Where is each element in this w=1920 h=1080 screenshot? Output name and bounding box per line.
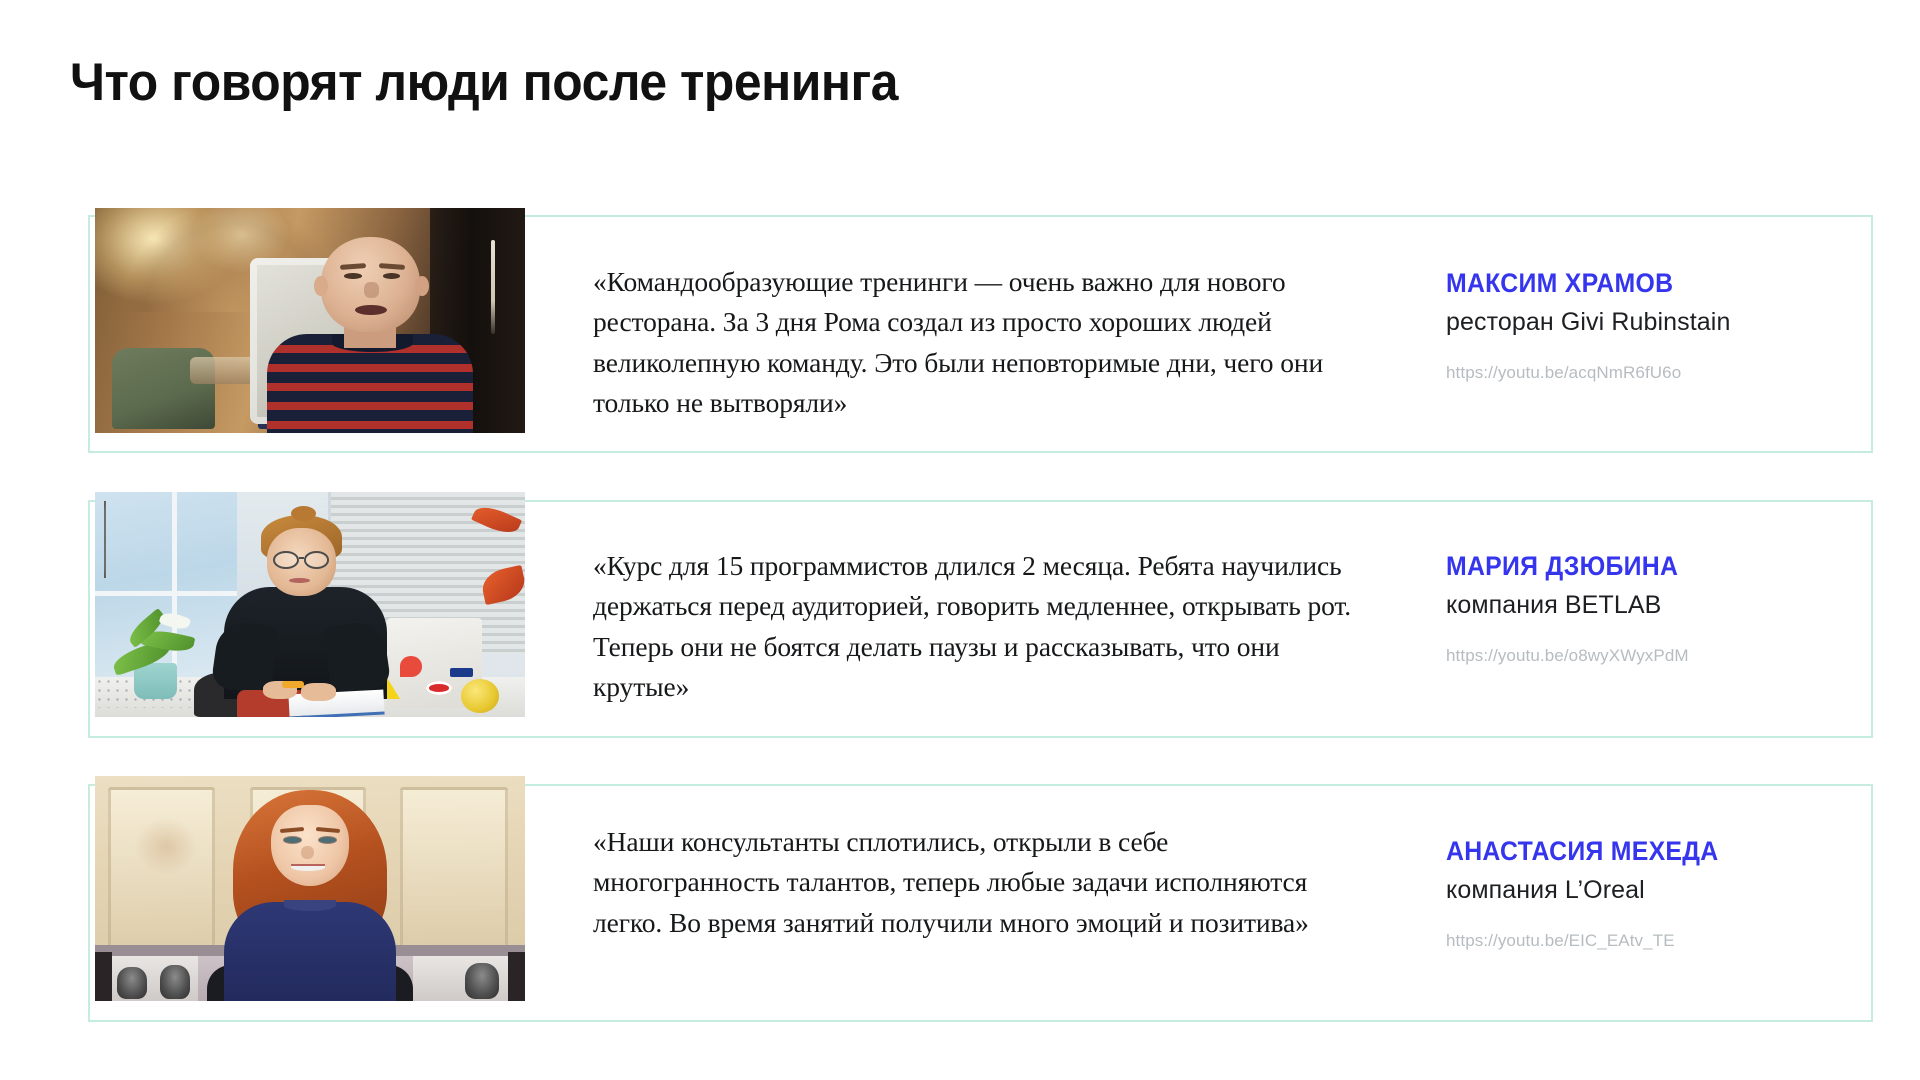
thumbnail-image-3 (95, 776, 525, 1001)
testimonial-video-link[interactable]: https://youtu.be/o8wyXWyxPdM (1446, 646, 1689, 666)
testimonial-attribution: АНАСТАСИЯ МЕХЕДА компания L’Oreal https:… (1446, 836, 1846, 951)
testimonial-quote: «Командообразующие тренинги — очень важн… (593, 262, 1358, 424)
testimonial-author-name: МАРИЯ ДЗЮБИНА (1446, 551, 1814, 582)
testimonial-attribution: МАРИЯ ДЗЮБИНА компания BETLAB https://yo… (1446, 551, 1846, 666)
testimonial-company: компания BETLAB (1446, 591, 1846, 620)
video-thumbnail[interactable] (95, 208, 525, 433)
testimonials-list: «Командообразующие тренинги — очень важн… (0, 0, 1920, 1080)
testimonial-company: компания L’Oreal (1446, 876, 1846, 905)
testimonial-video-link[interactable]: https://youtu.be/acqNmR6fU6o (1446, 363, 1681, 383)
thumbnail-image-1 (95, 208, 525, 433)
video-thumbnail[interactable] (95, 776, 525, 1001)
testimonial-company: ресторан Givi Rubinstain (1446, 308, 1846, 337)
testimonial-video-link[interactable]: https://youtu.be/EIC_EAtv_TE (1446, 931, 1675, 951)
testimonial-attribution: МАКСИМ ХРАМОВ ресторан Givi Rubinstain h… (1446, 268, 1846, 383)
testimonial-author-name: МАКСИМ ХРАМОВ (1446, 268, 1814, 299)
video-thumbnail[interactable]: ⚡ (95, 492, 525, 717)
testimonial-author-name: АНАСТАСИЯ МЕХЕДА (1446, 836, 1814, 867)
testimonial-quote: «Курс для 15 программистов длился 2 меся… (593, 546, 1358, 708)
testimonial-quote: «Наши консультанты сплотились, открыли в… (593, 822, 1358, 943)
thumbnail-image-2: ⚡ (95, 492, 525, 717)
